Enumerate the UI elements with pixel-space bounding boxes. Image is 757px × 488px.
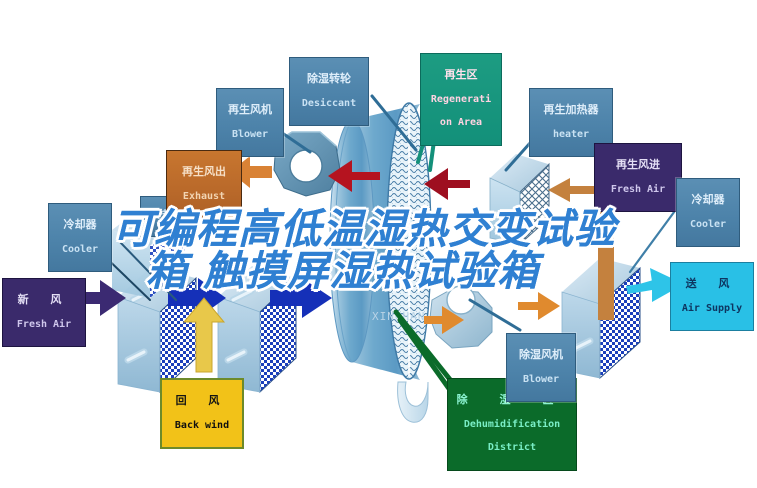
label-air-supply: 送 风 Air Supply xyxy=(670,262,754,331)
label-back-wind: 回 风 Back wind xyxy=(160,378,244,449)
label-cooler-right-cn: 冷却器 xyxy=(679,194,737,206)
label-desiccant-wheel-en: Desiccant xyxy=(292,98,366,109)
regen-hot-arrow-2 xyxy=(424,168,470,200)
label-cooler-right: 冷却器 Cooler xyxy=(676,178,740,247)
label-exhaust-en: Exhaust xyxy=(169,191,239,202)
label-regeneration-area-en1: Regenerati xyxy=(423,94,499,105)
label-regeneration-fresh-air-in-cn: 再生风进 xyxy=(597,159,679,171)
label-dehumidification-blower-en: Blower xyxy=(509,374,573,385)
label-fresh-air-in-cn: 新 风 xyxy=(5,294,83,306)
label-back-wind-en: Back wind xyxy=(164,420,240,431)
label-regeneration-heater-cn: 再生加热器 xyxy=(532,104,610,116)
overlay-title-line1: 可编程高低温湿热交变试验 xyxy=(112,208,667,250)
label-air-supply-cn: 送 风 xyxy=(673,278,751,290)
label-cooler-right-en: Cooler xyxy=(679,219,737,230)
label-regeneration-blower: 再生风机 Blower xyxy=(216,88,284,157)
diagram-canvas: XINGHAN xyxy=(0,0,757,488)
dry-air-arrow-2 xyxy=(518,292,560,320)
label-regeneration-heater-en: heater xyxy=(532,129,610,140)
label-regeneration-area: 再生区 Regenerati on Area xyxy=(420,53,502,146)
label-fresh-air-in-en: Fresh Air xyxy=(5,319,83,330)
label-regeneration-area-en2: on Area xyxy=(423,117,499,128)
label-regeneration-fresh-air-in: 再生风进 Fresh Air xyxy=(594,143,682,212)
label-desiccant-wheel-cn: 除湿转轮 xyxy=(292,73,366,85)
label-dehumidification-blower: 除湿风机 Blower xyxy=(506,333,576,402)
condensate-drain xyxy=(398,382,428,422)
overlay-title-outline: 可编程高低温湿热交变试验 箱 触摸屏湿热试验箱 xyxy=(112,208,667,292)
overlay-title-line2: 箱 触摸屏湿热试验箱 xyxy=(146,250,667,292)
label-exhaust-cn: 再生风出 xyxy=(169,166,239,178)
label-dehumidification-district-en2: District xyxy=(450,442,574,453)
label-fresh-air-in: 新 风 Fresh Air xyxy=(2,278,86,347)
label-regeneration-area-cn: 再生区 xyxy=(423,69,499,81)
label-air-supply-en: Air Supply xyxy=(673,303,751,314)
label-regeneration-fresh-air-in-en: Fresh Air xyxy=(597,184,679,195)
label-dehumidification-district-en1: Dehumidification xyxy=(450,419,574,430)
label-regeneration-blower-cn: 再生风机 xyxy=(219,104,281,116)
label-cooler-left-front-cn: 冷却器 xyxy=(51,219,109,231)
label-cooler-left-front: 冷却器 Cooler xyxy=(48,203,112,272)
label-back-wind-cn: 回 风 xyxy=(164,395,240,407)
label-dehumidification-blower-cn: 除湿风机 xyxy=(509,349,573,361)
label-regeneration-blower-en: Blower xyxy=(219,129,281,140)
label-desiccant-wheel: 除湿转轮 Desiccant xyxy=(289,57,369,126)
label-cooler-left-front-en: Cooler xyxy=(51,244,109,255)
